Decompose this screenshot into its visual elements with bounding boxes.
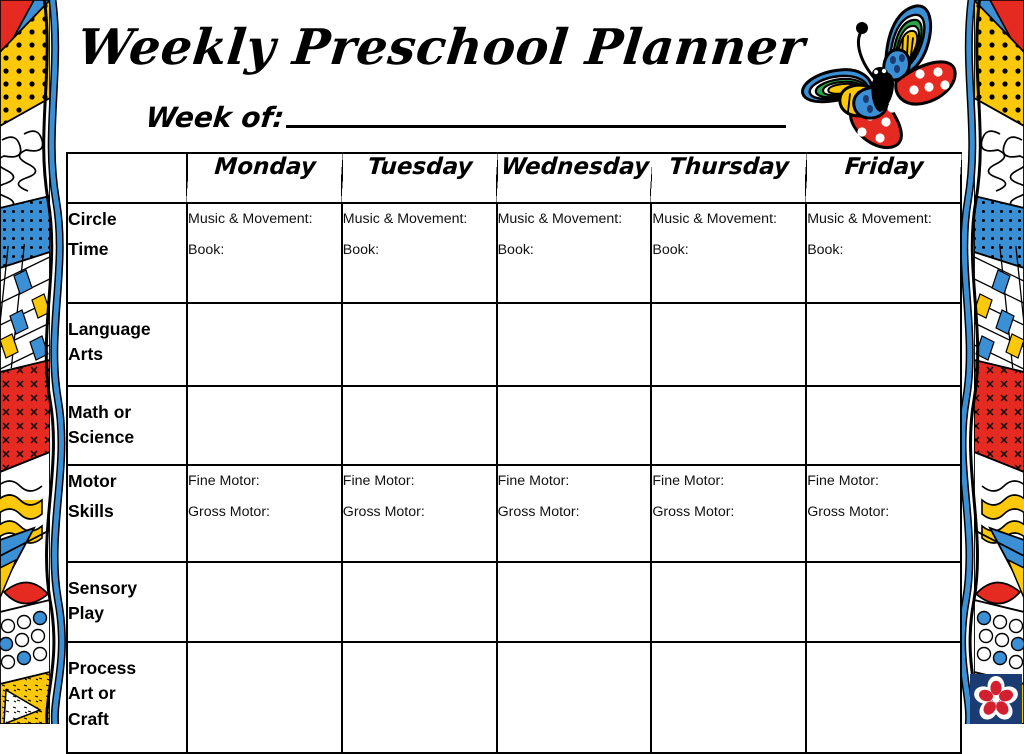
cell-line: Music & Movement: — [652, 204, 805, 235]
table-row: Circle Time Music & Movement: Book: Musi… — [67, 203, 961, 303]
cell-math-or-science-friday[interactable] — [806, 386, 961, 465]
flower-logo-badge — [970, 674, 1022, 724]
cell-circle-time-tuesday[interactable]: Music & Movement: Book: — [342, 203, 497, 303]
cell-sensory-play-wednesday[interactable] — [497, 562, 652, 642]
day-header-monday: Monday — [185, 153, 343, 203]
cell-motor-skills-monday[interactable]: Fine Motor: Gross Motor: — [187, 465, 342, 562]
row-label-line: Craft — [68, 707, 186, 732]
cell-line: Gross Motor: — [498, 497, 651, 528]
cell-language-arts-thursday[interactable] — [651, 303, 806, 386]
row-label-line: Play — [68, 601, 186, 626]
cell-line: Fine Motor: — [807, 466, 960, 497]
cell-line: Music & Movement: — [343, 204, 496, 235]
table-header-row: Monday Tuesday Wednesday Thursday Friday — [67, 153, 961, 203]
cell-sensory-play-friday[interactable] — [806, 562, 961, 642]
cell-process-art-monday[interactable] — [187, 642, 342, 753]
cell-line: Book: — [343, 235, 496, 266]
cell-line: Gross Motor: — [343, 497, 496, 528]
weekly-planner-table: Monday Tuesday Wednesday Thursday Friday… — [66, 152, 962, 754]
cell-motor-skills-friday[interactable]: Fine Motor: Gross Motor: — [806, 465, 961, 562]
table-row: Motor Skills Fine Motor: Gross Motor: Fi… — [67, 465, 961, 562]
week-of-row: Week of: — [146, 104, 906, 132]
cell-motor-skills-wednesday[interactable]: Fine Motor: Gross Motor: — [497, 465, 652, 562]
row-label-line: Arts — [68, 342, 186, 367]
cell-language-arts-tuesday[interactable] — [342, 303, 497, 386]
cell-motor-skills-thursday[interactable]: Fine Motor: Gross Motor: — [651, 465, 806, 562]
cell-sensory-play-tuesday[interactable] — [342, 562, 497, 642]
week-of-input[interactable] — [286, 125, 786, 128]
cell-motor-skills-tuesday[interactable]: Fine Motor: Gross Motor: — [342, 465, 497, 562]
cell-math-or-science-tuesday[interactable] — [342, 386, 497, 465]
cell-line: Music & Movement: — [807, 204, 960, 235]
row-label-line: Motor — [68, 466, 186, 496]
row-label-process-art-or-craft: Process Art or Craft — [67, 642, 187, 753]
cell-circle-time-wednesday[interactable]: Music & Movement: Book: — [497, 203, 652, 303]
decorative-border-left — [0, 0, 66, 724]
cell-line: Book: — [188, 235, 341, 266]
cell-language-arts-monday[interactable] — [187, 303, 342, 386]
row-label-sensory-play: Sensory Play — [67, 562, 187, 642]
row-label-line: Science — [68, 425, 186, 450]
cell-line: Fine Motor: — [498, 466, 651, 497]
cell-line: Gross Motor: — [652, 497, 805, 528]
table-row: Sensory Play — [67, 562, 961, 642]
row-label-line: Sensory — [68, 576, 186, 601]
cell-circle-time-friday[interactable]: Music & Movement: Book: — [806, 203, 961, 303]
row-label-line: Math or — [68, 400, 186, 425]
cell-line: Gross Motor: — [807, 497, 960, 528]
cell-math-or-science-thursday[interactable] — [651, 386, 806, 465]
cell-line: Fine Motor: — [652, 466, 805, 497]
cell-process-art-wednesday[interactable] — [497, 642, 652, 753]
row-label-language-arts: Language Arts — [67, 303, 187, 386]
row-label-line: Time — [68, 234, 186, 264]
cell-process-art-friday[interactable] — [806, 642, 961, 753]
cell-sensory-play-thursday[interactable] — [651, 562, 806, 642]
row-label-circle-time: Circle Time — [67, 203, 187, 303]
cell-language-arts-friday[interactable] — [806, 303, 961, 386]
row-label-line: Process — [68, 656, 186, 681]
cell-process-art-thursday[interactable] — [651, 642, 806, 753]
planner-page: Weekly Preschool Planner Week of: — [0, 0, 1024, 724]
corner-header-cell — [67, 153, 187, 203]
row-label-line: Skills — [68, 496, 186, 526]
cell-math-or-science-monday[interactable] — [187, 386, 342, 465]
butterfly-icon — [798, 2, 968, 152]
cell-line: Music & Movement: — [188, 204, 341, 235]
cell-line: Fine Motor: — [343, 466, 496, 497]
cell-line: Book: — [807, 235, 960, 266]
day-header-thursday: Thursday — [650, 153, 808, 203]
row-label-line: Circle — [68, 204, 186, 234]
cell-math-or-science-wednesday[interactable] — [497, 386, 652, 465]
cell-line: Fine Motor: — [188, 466, 341, 497]
cell-sensory-play-monday[interactable] — [187, 562, 342, 642]
day-header-wednesday: Wednesday — [495, 153, 653, 203]
cell-line: Music & Movement: — [498, 204, 651, 235]
cell-process-art-tuesday[interactable] — [342, 642, 497, 753]
table-row: Language Arts — [67, 303, 961, 386]
page-title: Weekly Preschool Planner — [75, 18, 808, 76]
day-header-friday: Friday — [804, 153, 962, 203]
cell-line: Book: — [652, 235, 805, 266]
cell-circle-time-thursday[interactable]: Music & Movement: Book: — [651, 203, 806, 303]
row-label-math-or-science: Math or Science — [67, 386, 187, 465]
table-row: Process Art or Craft — [67, 642, 961, 753]
row-label-line: Art or — [68, 681, 186, 706]
row-label-motor-skills: Motor Skills — [67, 465, 187, 562]
cell-line: Gross Motor: — [188, 497, 341, 528]
cell-line: Book: — [498, 235, 651, 266]
cell-circle-time-monday[interactable]: Music & Movement: Book: — [187, 203, 342, 303]
row-label-line: Language — [68, 317, 186, 342]
cell-language-arts-wednesday[interactable] — [497, 303, 652, 386]
day-header-tuesday: Tuesday — [340, 153, 498, 203]
week-of-label: Week of: — [145, 104, 286, 132]
table-row: Math or Science — [67, 386, 961, 465]
